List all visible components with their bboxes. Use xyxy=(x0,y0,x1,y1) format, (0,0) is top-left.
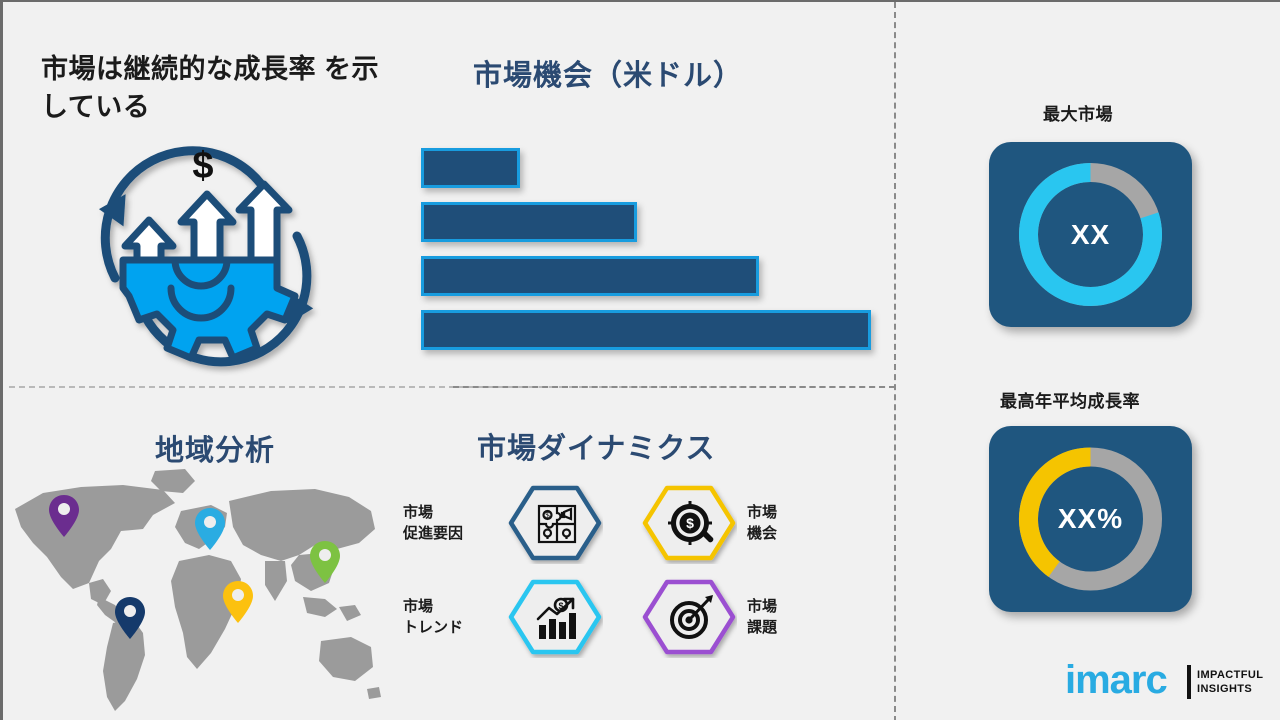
dynamics-item-0[interactable]: 市場 促進要因$ xyxy=(403,480,603,566)
magnifier-dollar-icon-hex[interactable]: $ xyxy=(641,482,737,564)
vertical-divider xyxy=(894,2,896,720)
opportunity-panel-title: 市場機会（米ドル） xyxy=(473,52,743,94)
slide-canvas: 市場は継続的な成長率 を示している xyxy=(0,0,1280,720)
pin-north-america xyxy=(47,493,81,544)
market-opportunity-bar-chart xyxy=(421,148,881,348)
dynamics-item-label-2: 市場 トレンド xyxy=(403,596,497,638)
dynamics-item-1[interactable]: $市場 機会 xyxy=(641,480,841,566)
logo-divider-bar xyxy=(1187,665,1191,699)
growth-panel-title: 市場は継続的な成長率 を示している xyxy=(41,50,381,126)
largest-market-donut-card: XX xyxy=(989,142,1192,327)
dynamics-item-3[interactable]: 市場 課題 xyxy=(641,574,841,660)
bar-3 xyxy=(421,256,759,296)
highest-cagr-donut xyxy=(989,426,1192,612)
highest-cagr-donut-card: XX% xyxy=(989,426,1192,612)
pin-europe xyxy=(193,506,227,557)
pin-east-asia xyxy=(308,539,342,590)
svg-text:$: $ xyxy=(192,145,213,187)
pin-south-america xyxy=(113,595,147,646)
largest-market-label: 最大市場 xyxy=(1043,100,1113,125)
bar-chart-arrow-icon-hex[interactable]: $ xyxy=(507,576,603,658)
dynamics-item-label-0: 市場 促進要因 xyxy=(403,502,497,544)
svg-text:$: $ xyxy=(558,601,563,611)
svg-text:$: $ xyxy=(545,511,550,520)
pin-middle-east xyxy=(221,579,255,630)
logo-wordmark: imarc xyxy=(1065,659,1167,701)
svg-text:$: $ xyxy=(686,515,694,531)
growth-gear-icon: $ xyxy=(75,128,325,376)
logo-tagline: IMPACTFUL INSIGHTS xyxy=(1197,668,1263,696)
bar-1 xyxy=(421,148,520,188)
highest-cagr-label: 最高年平均成長率 xyxy=(1000,387,1140,412)
world-map xyxy=(3,457,403,720)
puzzle-strategy-icon-hex[interactable]: $ xyxy=(507,482,603,564)
dynamics-item-label-1: 市場 機会 xyxy=(747,502,837,544)
market-dynamics-grid: 市場 促進要因$$市場 機会市場 トレンド$市場 課題 xyxy=(403,480,833,680)
target-dart-icon-hex[interactable] xyxy=(641,576,737,658)
horizontal-divider-strong xyxy=(453,386,895,388)
bar-2 xyxy=(421,202,637,242)
bar-4 xyxy=(421,310,871,350)
dynamics-item-label-3: 市場 課題 xyxy=(747,596,837,638)
dynamics-panel-title: 市場ダイナミクス xyxy=(477,425,716,467)
largest-market-donut xyxy=(989,142,1192,327)
dynamics-item-2[interactable]: 市場 トレンド$ xyxy=(403,574,603,660)
imarc-logo: imarc IMPACTFUL INSIGHTS xyxy=(1065,657,1265,709)
